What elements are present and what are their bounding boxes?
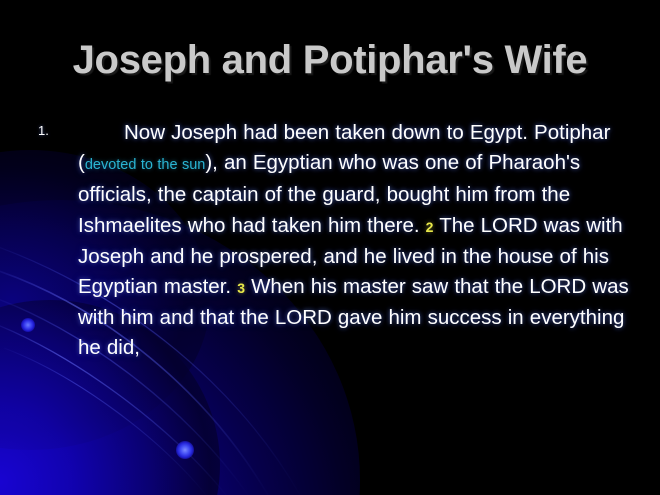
node-dot-lower-icon [176,441,194,459]
verse-number: 3 [237,280,245,296]
gloss-text: devoted to the sun [85,157,206,173]
scripture-paragraph: Now Joseph had been taken down to Egypt.… [78,118,638,364]
presentation-slide: Joseph and Potiphar's Wife 1. Now Joseph… [0,0,660,495]
slide-title: Joseph and Potiphar's Wife [0,38,660,83]
node-dot-upper-icon [21,318,35,332]
list-marker: 1. [38,123,64,138]
slide-body: 1. Now Joseph had been taken down to Egy… [38,118,638,364]
